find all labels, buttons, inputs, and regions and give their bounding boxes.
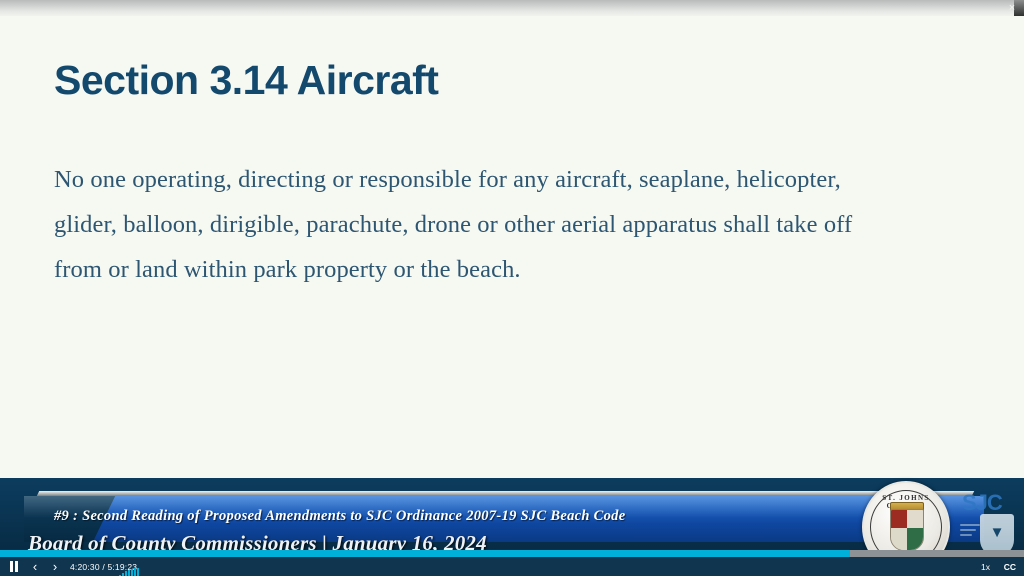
sjc-wordmark: SJC [962,490,1002,516]
bird-icon: ▼ [985,526,1009,540]
slide-content: Section 3.14 Aircraft No one operating, … [54,58,976,292]
slide-body-text: No one operating, directing or responsib… [54,157,884,292]
next-button[interactable]: › [48,560,62,574]
volume-slider[interactable] [119,561,147,572]
slide-title: Section 3.14 Aircraft [54,58,976,103]
video-progress-fill [0,550,850,557]
playback-speed-button[interactable]: 1x [981,561,990,573]
closed-captions-button[interactable]: CC [1004,561,1016,573]
crest-quadrant-2 [907,510,923,528]
window-top-chrome [0,0,1024,16]
video-control-bar: ‹ › 4:20:30 / 5:19:23 1x CC [0,557,1024,576]
presentation-slide: Section 3.14 Aircraft No one operating, … [0,10,1024,478]
crest-quadrant-3 [891,528,907,550]
seal-coat-of-arms [890,509,924,551]
close-icon[interactable]: × [1007,3,1017,13]
crest-quadrant-1 [891,510,907,528]
wave-lines-icon [960,524,982,544]
video-player-window: × Section 3.14 Aircraft No one operating… [0,0,1024,576]
pause-button[interactable] [8,560,20,574]
crest-quadrant-4 [907,528,923,550]
previous-button[interactable]: ‹ [28,560,42,574]
banner-agenda-item: #9 : Second Reading of Proposed Amendmen… [54,508,854,525]
video-progress-scrubber[interactable] [0,550,1024,557]
